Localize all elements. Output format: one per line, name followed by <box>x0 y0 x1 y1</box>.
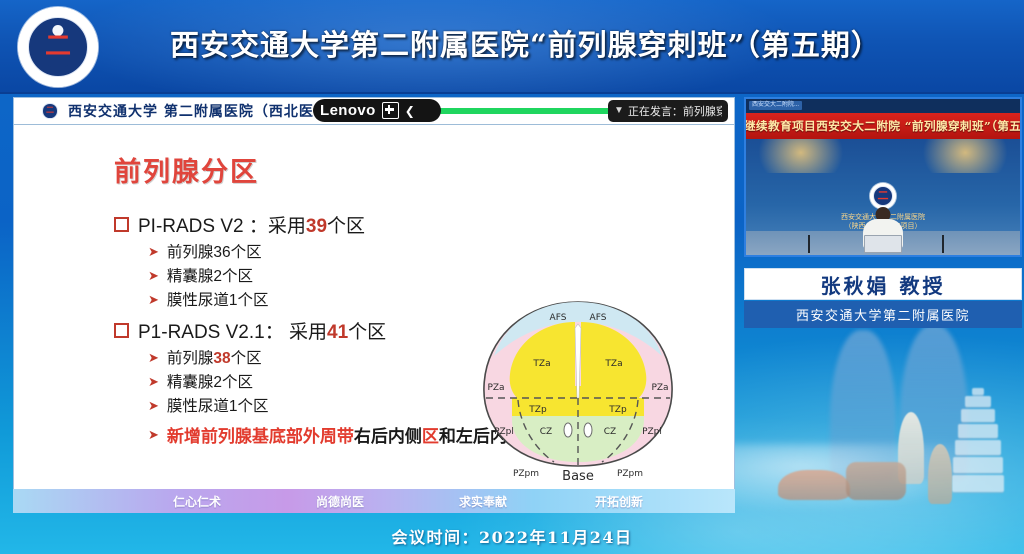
slogan-item: 开拓创新 <box>595 493 643 510</box>
label-afs-right: AFS <box>590 313 607 323</box>
bullet-item-emphasis: ➤ 新增前列腺基底部外周带右后内侧区和左后内侧区 <box>148 422 494 447</box>
video-top-strip: 西安交大二附院... <box>746 99 1020 113</box>
stage-lights <box>746 139 1020 173</box>
arrow-bullet-icon: ➤ <box>148 428 159 441</box>
bullet-text: 精囊腺2个区 <box>167 370 253 392</box>
label-afs-left: AFS <box>550 313 567 323</box>
presenter-name-plate: 张秋娟 教授 西安交通大学第二附属医院 <box>744 268 1022 330</box>
label-tza-left: TZa <box>532 359 550 369</box>
label-cz-right: CZ <box>604 427 616 437</box>
label-base: Base <box>562 469 594 484</box>
label-pza-left: PZa <box>487 383 504 393</box>
chevron-left-icon[interactable]: ❮ <box>405 105 415 117</box>
slide-bullet-list: PI-RADS V2 ：采用39个区 ➤ 前列腺36个区 ➤ 精囊腺2个区 ➤ … <box>114 208 494 449</box>
prostate-zone-base-diagram: AFS AFS TZa TZa TZp TZp CZ CZ PZa PZa PZ… <box>472 294 684 490</box>
video-stage-background: 二 西安交通大学第二附属医院 （陕西省继续教育项目） “前列腺穿刺”（第五期） <box>746 139 1020 257</box>
label-pzpl-right: PZpl <box>642 427 662 437</box>
label-pzpm-left: PZpm <box>513 469 539 479</box>
arrow-bullet-icon: ➤ <box>148 293 159 306</box>
label-tzp-left: TZp <box>528 405 547 415</box>
bullet-text: 膜性尿道1个区 <box>167 288 269 310</box>
shared-slide[interactable]: 二 西安交通大学 第二附属医院（西北医 前列腺分区 PI-RADS V2 ：采用… <box>13 97 735 513</box>
emblem-mark: 二 <box>878 187 889 203</box>
label-pza-right: PZa <box>651 383 668 393</box>
emblem-mark: 二 <box>46 105 54 116</box>
screen-share-icon[interactable] <box>382 102 399 119</box>
active-speaker-chip[interactable]: ▼ 正在发言：前列腺穿... <box>608 100 728 122</box>
bullet-text: 前列腺38个区 <box>167 346 262 368</box>
page-title: 西安交通大学第二附属医院“前列腺穿刺班”（第五期） <box>170 19 910 71</box>
square-bullet-icon <box>114 323 129 338</box>
bullet-text: P1-RADS V2.1： 采用41个区 <box>138 317 386 344</box>
bronze-chariot-horses-icon <box>778 470 850 500</box>
arrow-bullet-icon: ➤ <box>148 399 159 412</box>
arrow-bullet-icon: ➤ <box>148 375 159 388</box>
label-pzpm-right: PZpm <box>617 469 643 479</box>
microphone-right-icon <box>942 235 944 253</box>
pagoda-icon <box>952 388 1004 492</box>
slide-header-title: 西安交通大学 第二附属医院（西北医 <box>68 101 314 121</box>
chevron-down-icon[interactable]: ▼ <box>614 106 624 116</box>
conference-banner-text: 省级继续教育项目西安交大二附院 “前列腺穿刺班”（第五期） <box>744 118 1022 134</box>
bullet-text: 膜性尿道1个区 <box>167 394 269 416</box>
arrow-bullet-icon: ➤ <box>148 245 159 258</box>
bullet-item-sub: ➤ 前列腺36个区 <box>148 240 494 262</box>
bullet-item-sub: ➤ 膜性尿道1个区 <box>148 288 494 310</box>
emblem-mark: 二 <box>45 25 71 62</box>
slogan-item: 求实奉献 <box>459 493 507 510</box>
presenter-name-box: 张秋娟 教授 <box>744 268 1022 300</box>
bullet-text: 精囊腺2个区 <box>167 264 253 286</box>
conference-banner: 省级继续教育项目西安交大二附院 “前列腺穿刺班”（第五期） <box>746 113 1020 139</box>
bullet-text: PI-RADS V2 ：采用39个区 <box>138 211 365 238</box>
label-cz-left: CZ <box>540 427 552 437</box>
presenter-affiliation-box: 西安交通大学第二附属医院 <box>744 301 1022 328</box>
bullet-item-primary: PI-RADS V2 ：采用39个区 <box>114 211 494 238</box>
lenovo-brand-label: Lenovo <box>320 102 376 119</box>
arrow-bullet-icon: ➤ <box>148 351 159 364</box>
arrow-bullet-icon: ➤ <box>148 269 159 282</box>
slide-slogan-bar: 仁心仁术 尚德尚医 求实奉献 开拓创新 <box>13 489 735 513</box>
page-header: 二 西安交通大学第二附属医院“前列腺穿刺班”（第五期） <box>0 0 1024 94</box>
bullet-item-sub: ➤ 前列腺38个区 <box>148 346 494 368</box>
screen-share-indicator-bar <box>432 108 617 114</box>
label-tzp-right: TZp <box>608 405 627 415</box>
lenovo-share-toolbar[interactable]: Lenovo ❮ <box>313 99 441 122</box>
terracotta-statue-kneeling-icon <box>928 444 952 504</box>
square-bullet-icon <box>114 217 129 232</box>
slogan-item: 仁心仁术 <box>173 493 221 510</box>
bullet-item-primary: P1-RADS V2.1： 采用41个区 <box>114 317 494 344</box>
bullet-item-sub: ➤ 精囊腺2个区 <box>148 370 494 392</box>
presenter-affiliation: 西安交通大学第二附属医院 <box>796 305 970 324</box>
hospital-emblem-icon: 二 <box>870 183 896 209</box>
bullet-item-sub: ➤ 精囊腺2个区 <box>148 264 494 286</box>
hospital-emblem-icon: 二 <box>18 7 98 87</box>
slogan-item: 尚德尚医 <box>316 493 364 510</box>
active-speaker-label: 正在发言：前列腺穿... <box>628 103 722 119</box>
laptop-icon <box>864 235 902 253</box>
bullet-text: 前列腺36个区 <box>167 240 262 262</box>
hospital-emblem-icon: 二 <box>40 101 60 121</box>
video-name-badge: 西安交大二附院... <box>749 101 802 110</box>
bronze-chariot-icon <box>846 462 906 500</box>
presenter-video-tile[interactable]: 西安交大二附院... 省级继续教育项目西安交大二附院 “前列腺穿刺班”（第五期）… <box>744 97 1022 257</box>
presenter-name: 张秋娟 教授 <box>821 270 946 299</box>
label-pzpl-left: PZpl <box>494 427 514 437</box>
slide-title: 前列腺分区 <box>114 150 259 189</box>
meeting-time-label: 会议时间：2022年11月24日 <box>0 524 1024 548</box>
bullet-item-sub: ➤ 膜性尿道1个区 <box>148 394 494 416</box>
microphone-left-icon <box>808 235 810 253</box>
label-tza-right: TZa <box>604 359 622 369</box>
